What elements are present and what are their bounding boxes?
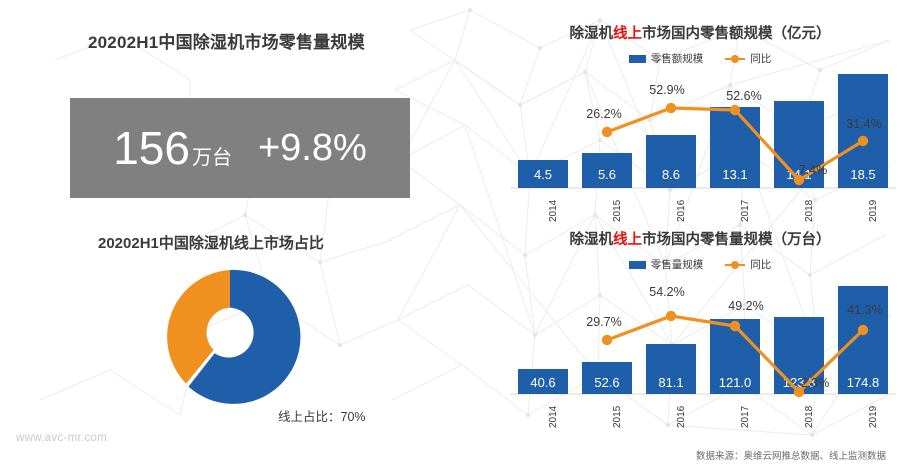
svg-text:2.3%: 2.3% <box>801 376 830 390</box>
svg-text:4.5: 4.5 <box>534 167 552 182</box>
legend-item-bar[interactable]: 零售额规模 <box>629 51 704 66</box>
site-url: www.avc-mr.com <box>16 432 107 444</box>
kpi-unit: 万台 <box>192 148 232 168</box>
page-title-retail-volume: 20202H1中国除湿机市场零售量规模 <box>88 28 365 53</box>
svg-text:26.2%: 26.2% <box>586 107 621 121</box>
kpi-highlight-box: 156 万台 +9.8% <box>70 98 410 198</box>
retail-value-plot: 4.5 5.6 8.6 13.1 14.1 18.5 <box>500 68 900 220</box>
legend-label-bar: 零售量规模 <box>651 257 704 272</box>
legend-label-line: 同比 <box>750 257 771 272</box>
kpi-value-group: 156 万台 <box>113 125 232 171</box>
x-tick-2019: 2019 <box>868 406 879 428</box>
svg-text:5.6: 5.6 <box>598 167 616 182</box>
bar-swatch-icon <box>629 55 646 63</box>
title-segment-post: 市场国内零售额规模（亿元） <box>642 26 831 42</box>
x-tick-2018: 2018 <box>804 406 815 428</box>
retail-value-chart-title: 除湿机线上市场国内零售额规模（亿元） <box>500 22 900 43</box>
retail-volume-legend: 零售量规模 同比 <box>500 257 900 272</box>
data-source-note: 数据来源：奥维云网推总数据、线上监测数据 <box>696 448 886 462</box>
svg-text:31.4%: 31.4% <box>846 117 881 131</box>
x-tick-2014: 2014 <box>548 200 559 222</box>
svg-text:18.5: 18.5 <box>850 167 875 182</box>
kpi-value: 156 <box>113 125 190 171</box>
line-marker-icon <box>725 55 745 63</box>
x-tick-2017: 2017 <box>740 200 751 222</box>
svg-text:8.6: 8.6 <box>662 167 680 182</box>
legend-item-line[interactable]: 同比 <box>725 257 771 272</box>
title-segment-highlight: 线上 <box>613 26 642 42</box>
legend-item-line[interactable]: 同比 <box>725 51 771 66</box>
title-segment-highlight: 线上 <box>613 232 642 248</box>
svg-text:40.6: 40.6 <box>530 375 555 390</box>
bars <box>518 286 888 394</box>
title-segment-post: 市场国内零售量规模（万台） <box>642 232 831 248</box>
x-tick-2018: 2018 <box>804 200 815 222</box>
svg-text:7.4%: 7.4% <box>799 163 828 177</box>
kpi-growth: +9.8% <box>258 129 367 167</box>
retail-value-chart-block: 除湿机线上市场国内零售额规模（亿元） 零售额规模 同比 <box>500 22 900 222</box>
title-segment-pre: 除湿机 <box>570 26 614 42</box>
legend-label-line: 同比 <box>750 51 771 66</box>
line-marker-icon <box>725 261 745 269</box>
legend-label-bar: 零售额规模 <box>651 51 704 66</box>
legend-item-bar[interactable]: 零售量规模 <box>629 257 704 272</box>
svg-text:54.2%: 54.2% <box>649 285 684 299</box>
bars <box>518 74 888 188</box>
x-tick-2016: 2016 <box>676 200 687 222</box>
svg-text:52.9%: 52.9% <box>649 83 684 97</box>
bar-swatch-icon <box>629 261 646 269</box>
svg-text:52.6: 52.6 <box>594 375 619 390</box>
x-tick-2017: 2017 <box>740 406 751 428</box>
retail-volume-chart-block: 除湿机线上市场国内零售量规模（万台） 零售量规模 同比 <box>500 228 900 428</box>
svg-text:121.0: 121.0 <box>719 375 752 390</box>
svg-text:174.8: 174.8 <box>847 375 880 390</box>
svg-text:52.6%: 52.6% <box>726 89 761 103</box>
x-tick-2019: 2019 <box>868 200 879 222</box>
x-tick-2015: 2015 <box>612 200 623 222</box>
svg-text:49.2%: 49.2% <box>728 299 763 313</box>
donut-caption: 线上占比：70% <box>278 406 366 425</box>
x-tick-2016: 2016 <box>676 406 687 428</box>
retail-volume-chart-title: 除湿机线上市场国内零售量规模（万台） <box>500 228 900 249</box>
left-panel: 20202H1中国除湿机市场零售量规模 156 万台 +9.8% 20202H1… <box>0 0 470 440</box>
svg-text:81.1: 81.1 <box>658 375 683 390</box>
svg-text:29.7%: 29.7% <box>586 315 621 329</box>
svg-text:13.1: 13.1 <box>722 167 747 182</box>
retail-volume-plot: 40.6 52.6 81.1 121.0 123.8 174.8 <box>500 274 900 426</box>
title-segment-pre: 除湿机 <box>570 232 614 248</box>
donut-chart <box>155 262 305 412</box>
right-panel: 除湿机线上市场国内零售额规模（亿元） 零售额规模 同比 <box>500 0 900 440</box>
x-tick-2015: 2015 <box>612 406 623 428</box>
x-tick-2014: 2014 <box>548 406 559 428</box>
svg-text:41.3%: 41.3% <box>847 303 882 317</box>
donut-chart-title: 20202H1中国除湿机线上市场占比 <box>98 232 324 253</box>
retail-value-legend: 零售额规模 同比 <box>500 51 900 66</box>
